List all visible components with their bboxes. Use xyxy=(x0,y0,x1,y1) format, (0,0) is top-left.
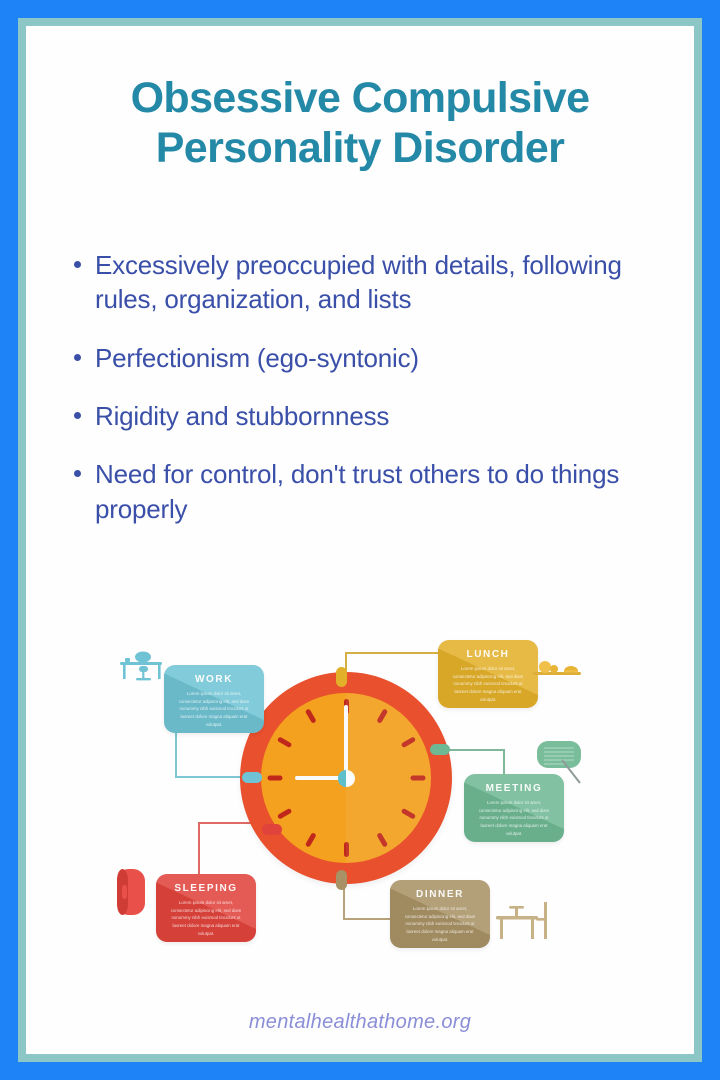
clock-tick xyxy=(410,776,425,781)
clock-graphic xyxy=(240,672,452,884)
bullet-dot-icon xyxy=(74,470,81,477)
clock-tick xyxy=(376,832,388,847)
clock-node-dinner xyxy=(336,870,347,890)
list-item-text: Rigidity and stubbornness xyxy=(95,399,389,433)
card-sleeping-body: Lorem ipsum dolor sit amet, consectetur … xyxy=(166,899,246,938)
card-work-title: WORK xyxy=(174,674,254,685)
card-meeting-body: Lorem ipsum dolor sit amet, consectetur … xyxy=(474,799,554,838)
list-item: Excessively preoccupied with details, fo… xyxy=(74,248,666,317)
site-url[interactable]: mentalhealthathome.org xyxy=(26,1011,694,1034)
clock-node-meeting xyxy=(430,744,450,755)
list-item-text: Need for control, don't trust others to … xyxy=(95,457,655,526)
food-shelf-icon xyxy=(533,655,583,686)
bullet-dot-icon xyxy=(74,412,81,419)
clock-tick xyxy=(276,808,291,820)
clock-tick xyxy=(276,736,291,748)
poster-canvas: Obsessive Compulsive Personality Disorde… xyxy=(26,26,694,1054)
page-title-line-2: Personality Disorder xyxy=(48,124,672,174)
card-sleeping-title: SLEEPING xyxy=(166,883,246,894)
clock-tick xyxy=(400,736,415,748)
infographic-stage: WORK Lorem ipsum dolor sit amet, consect… xyxy=(100,622,620,962)
clock-minute-hand xyxy=(344,705,348,778)
clock-tick xyxy=(304,708,316,723)
clock-tick xyxy=(376,708,388,723)
list-item-text: Perfectionism (ego-syntonic) xyxy=(95,341,419,375)
desk-chair-icon xyxy=(118,650,166,691)
clock-node-work xyxy=(242,772,262,783)
list-item: Rigidity and stubbornness xyxy=(74,399,666,433)
card-sleeping[interactable]: SLEEPING Lorem ipsum dolor sit amet, con… xyxy=(156,874,256,942)
bullet-dot-icon xyxy=(74,354,81,361)
card-lunch-title: LUNCH xyxy=(448,649,528,660)
clock-center-pin xyxy=(338,770,355,787)
card-lunch-body: Lorem ipsum dolor sit amet, consectetur … xyxy=(448,665,528,704)
card-work-body: Lorem ipsum dolor sit amet, consectetur … xyxy=(174,690,254,729)
page-title-line-1: Obsessive Compulsive xyxy=(48,74,672,124)
clock-tick xyxy=(344,842,349,857)
page-title: Obsessive Compulsive Personality Disorde… xyxy=(26,74,694,174)
clock-tick xyxy=(267,776,282,781)
daily-routine-infographic: WORK Lorem ipsum dolor sit amet, consect… xyxy=(26,622,694,962)
clock-face xyxy=(261,693,431,863)
card-dinner-body: Lorem ipsum dolor sit amet, consectetur … xyxy=(400,905,480,944)
pillow-icon xyxy=(114,867,150,924)
symptom-list: Excessively preoccupied with details, fo… xyxy=(74,248,666,550)
bullet-dot-icon xyxy=(74,261,81,268)
list-item-text: Excessively preoccupied with details, fo… xyxy=(95,248,655,317)
card-work[interactable]: WORK Lorem ipsum dolor sit amet, consect… xyxy=(164,665,264,733)
clock-tick xyxy=(400,808,415,820)
presentation-board-icon xyxy=(536,740,588,791)
poster-frame: Obsessive Compulsive Personality Disorde… xyxy=(0,0,720,1080)
card-dinner-title: DINNER xyxy=(400,889,480,900)
clock-tick xyxy=(304,832,316,847)
poster-inner-border: Obsessive Compulsive Personality Disorde… xyxy=(18,18,702,1062)
clock-node-sleeping xyxy=(262,824,282,835)
card-dinner[interactable]: DINNER Lorem ipsum dolor sit amet, conse… xyxy=(390,880,490,948)
clock-node-lunch xyxy=(336,667,347,687)
list-item: Need for control, don't trust others to … xyxy=(74,457,666,526)
dining-table-icon xyxy=(490,898,554,949)
card-lunch[interactable]: LUNCH Lorem ipsum dolor sit amet, consec… xyxy=(438,640,538,708)
list-item: Perfectionism (ego-syntonic) xyxy=(74,341,666,375)
